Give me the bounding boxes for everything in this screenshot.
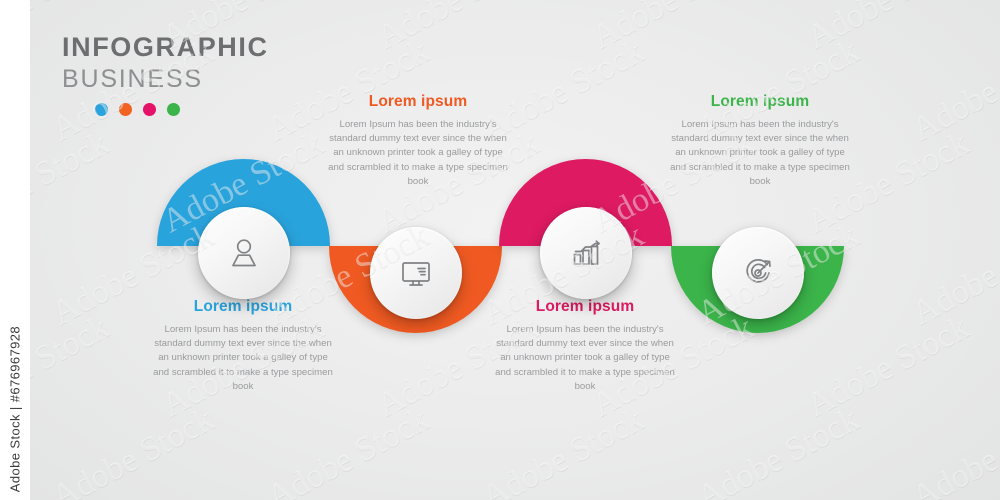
watermark-tile: Adobe Stock xyxy=(261,401,435,500)
step-3-text-block: Lorem ipsum Lorem Ipsum has been the ind… xyxy=(494,298,676,394)
color-dot-row xyxy=(95,103,269,116)
step-1-text-block: Lorem ipsum Lorem Ipsum has been the ind… xyxy=(152,298,334,394)
step-1-body: Lorem Ipsum has been the industry's stan… xyxy=(152,323,334,394)
watermark-tile: Adobe Stock xyxy=(586,0,760,57)
page-title-line1: INFOGRAPHIC xyxy=(62,32,269,64)
step-2-heading: Lorem ipsum xyxy=(327,93,509,111)
watermark-tile: Adobe Stock xyxy=(801,0,975,57)
header-block: INFOGRAPHIC BUSINESS xyxy=(62,32,269,116)
dot-orange-icon xyxy=(119,103,132,116)
step-1-medallion[interactable] xyxy=(198,207,290,299)
step-3-medallion[interactable] xyxy=(540,207,632,299)
watermark-tile: Adobe Stock xyxy=(906,33,1000,149)
watermark-tile: Adobe Stock xyxy=(691,401,865,500)
stock-sidebar-label: Adobe Stock | #676967928 xyxy=(8,326,23,492)
step-4-medallion[interactable] xyxy=(712,227,804,319)
step-3-heading: Lorem ipsum xyxy=(494,298,676,316)
step-2-body: Lorem Ipsum has been the industry's stan… xyxy=(327,118,509,189)
user-icon xyxy=(224,233,264,273)
watermark-tile: Adobe Stock xyxy=(371,0,545,57)
step-2-medallion[interactable] xyxy=(370,227,462,319)
step-4-text-block: Lorem ipsum Lorem Ipsum has been the ind… xyxy=(669,93,851,189)
infographic-canvas: INFOGRAPHIC BUSINESS Lorem ipsum Lorem I… xyxy=(0,0,1000,500)
monitor-icon xyxy=(396,253,436,293)
dot-green-icon xyxy=(167,103,180,116)
step-4-heading: Lorem ipsum xyxy=(669,93,851,111)
dot-blue-icon xyxy=(95,103,108,116)
watermark-tile: Adobe Stock xyxy=(906,217,1000,333)
step-4-body: Lorem Ipsum has been the industry's stan… xyxy=(669,118,851,189)
target-arrow-icon xyxy=(738,253,778,293)
watermark-tile: Adobe Stock xyxy=(586,493,760,500)
watermark-tile: Adobe Stock xyxy=(156,493,330,500)
step-1-heading: Lorem ipsum xyxy=(152,298,334,316)
step-2-text-block: Lorem ipsum Lorem Ipsum has been the ind… xyxy=(327,93,509,189)
watermark-tile: Adobe Stock xyxy=(476,401,650,500)
watermark-tile: Adobe Stock xyxy=(801,309,975,425)
step-3-body: Lorem Ipsum has been the industry's stan… xyxy=(494,323,676,394)
stock-sidebar: Adobe Stock | #676967928 xyxy=(0,0,30,500)
watermark-tile: Adobe Stock xyxy=(801,493,975,500)
watermark-tile: Adobe Stock xyxy=(46,401,220,500)
page-title-line2: BUSINESS xyxy=(62,64,269,94)
watermark-tile: Adobe Stock xyxy=(906,401,1000,500)
dot-pink-icon xyxy=(143,103,156,116)
bar-chart-growth-icon xyxy=(566,233,606,273)
watermark-tile: Adobe Stock xyxy=(371,493,545,500)
